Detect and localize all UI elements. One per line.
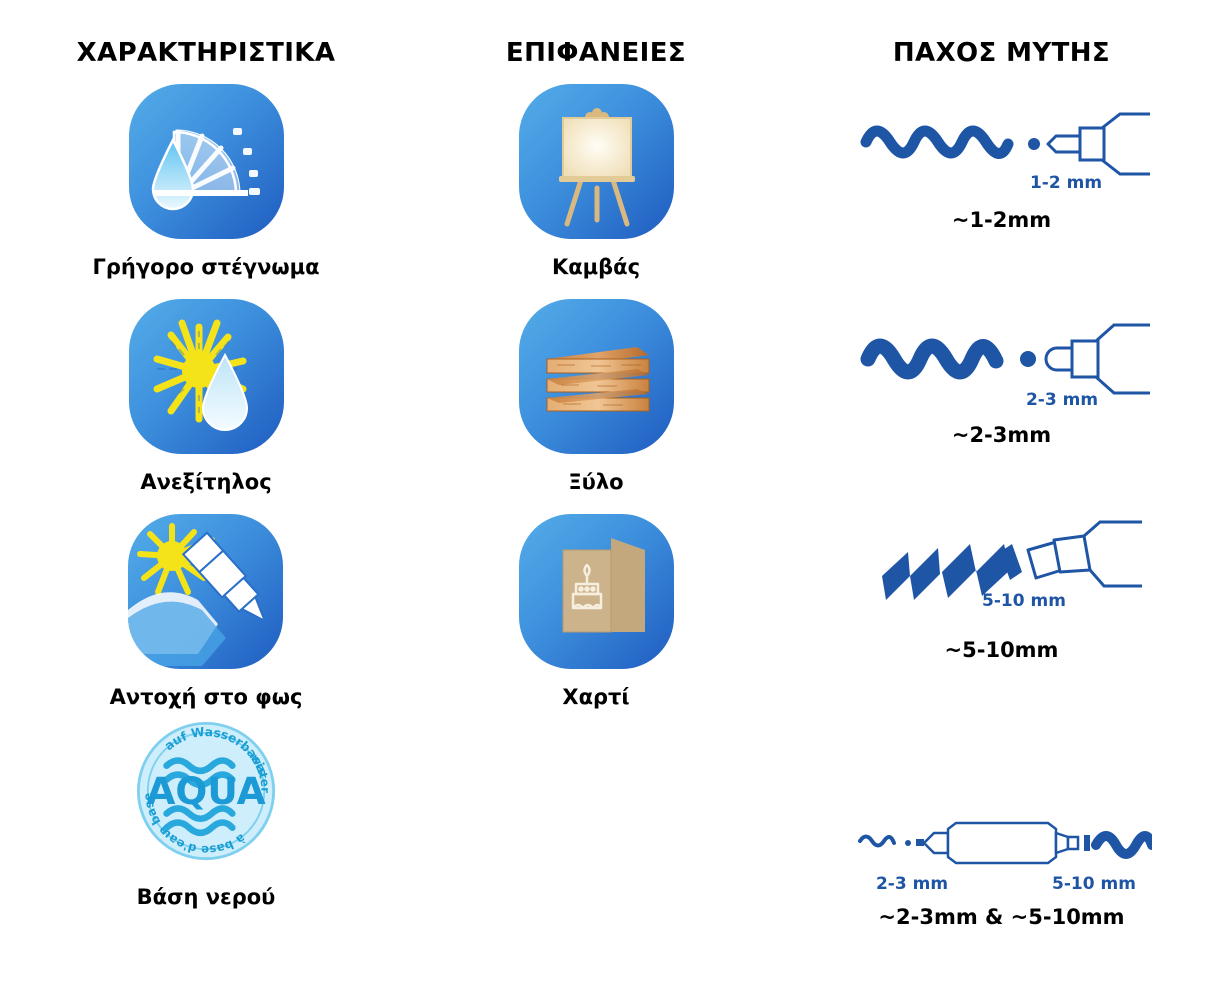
- nib-label-5-10mm: ~5-10mm: [945, 638, 1059, 662]
- nib-label-2-3mm: ~2-3mm: [952, 423, 1051, 447]
- bullet-nib-1-2mm-icon: 1-2 mm: [852, 84, 1152, 204]
- infographic-sheet: ΧΑΡΑΚΤΗΡΙΣΤΙΚΑ: [0, 0, 1223, 1000]
- wood-planks-icon: [519, 299, 674, 454]
- surface-label-wood: Ξύλο: [568, 470, 623, 494]
- surface-item-wood: Ξύλο: [519, 299, 674, 514]
- nib-item-1-2mm: 1-2 mm ~1-2mm: [852, 84, 1152, 299]
- column-header-features: ΧΑΡΑΚΤΗΡΙΣΤΙΚΑ: [77, 22, 336, 84]
- feature-label-lightfast: Αντοχή στο φως: [110, 685, 303, 709]
- aqua-center-text: AQUA: [146, 769, 265, 813]
- sun-marker-lightfast-icon: [128, 514, 283, 669]
- feature-item-lightfast: Αντοχή στο φως: [110, 514, 303, 714]
- nib-item-dual-tip: 2-3 mm 5-10 mm ~2-3mm & ~5-10mm: [852, 714, 1152, 929]
- feature-item-waterproof: Ανεξίτηλος: [129, 299, 284, 514]
- dual-tip-marker-icon: 2-3 mm 5-10 mm: [852, 801, 1152, 901]
- column-features: ΧΑΡΑΚΤΗΡΙΣΤΙΚΑ: [0, 0, 412, 929]
- paper-greeting-card-icon: [519, 514, 674, 669]
- sun-droplet-waterproof-icon: [129, 299, 284, 454]
- canvas-easel-icon: [519, 84, 674, 239]
- feature-item-quick-dry: Γρήγορο στέγνωμα: [92, 84, 319, 299]
- aqua-waterbased-stamp-icon: auf Wasserbasis à base d'eau waterbased …: [129, 714, 284, 869]
- nib-label-1-2mm: ~1-2mm: [952, 208, 1051, 232]
- nib-art-label-1-2mm: 1-2 mm: [1029, 173, 1101, 193]
- columns-grid: ΧΑΡΑΚΤΗΡΙΣΤΙΚΑ: [0, 0, 1223, 929]
- nib-art-label-5-10mm: 5-10 mm: [982, 591, 1066, 611]
- feature-label-waterproof: Ανεξίτηλος: [140, 470, 271, 494]
- bullet-nib-2-3mm-icon: 2-3 mm: [852, 299, 1152, 419]
- nib-item-5-10mm: 5-10 mm ~5-10mm: [852, 514, 1152, 714]
- nib-art-label-2-3mm: 2-3 mm: [1025, 390, 1097, 410]
- nib-art-label-dual-thin: 2-3 mm: [875, 874, 947, 894]
- feature-label-waterbased: Βάση νερού: [137, 885, 276, 909]
- nib-art-label-dual-broad: 5-10 mm: [1052, 874, 1136, 894]
- chisel-nib-5-10mm-icon: 5-10 mm: [852, 514, 1152, 634]
- nib-item-2-3mm: 2-3 mm ~2-3mm: [852, 299, 1152, 514]
- feature-item-waterbased: auf Wasserbasis à base d'eau waterbased …: [129, 714, 284, 929]
- quick-dry-droplet-icon: [129, 84, 284, 239]
- column-surfaces: ΕΠΙΦΑΝΕΙΕΣ: [412, 0, 780, 929]
- nib-label-dual-tip: ~2-3mm & ~5-10mm: [878, 905, 1124, 929]
- surface-item-paper: Χαρτί: [519, 514, 674, 714]
- surface-label-paper: Χαρτί: [562, 685, 629, 709]
- column-header-surfaces: ΕΠΙΦΑΝΕΙΕΣ: [506, 22, 686, 84]
- column-nib-thickness: ΠΑΧΟΣ ΜΥΤΗΣ 1-2 mm ~1-2mm: [780, 0, 1223, 929]
- column-header-nib-thickness: ΠΑΧΟΣ ΜΥΤΗΣ: [893, 22, 1110, 84]
- feature-label-quick-dry: Γρήγορο στέγνωμα: [92, 255, 319, 279]
- surface-label-canvas: Καμβάς: [552, 255, 640, 279]
- surface-item-canvas: Καμβάς: [519, 84, 674, 299]
